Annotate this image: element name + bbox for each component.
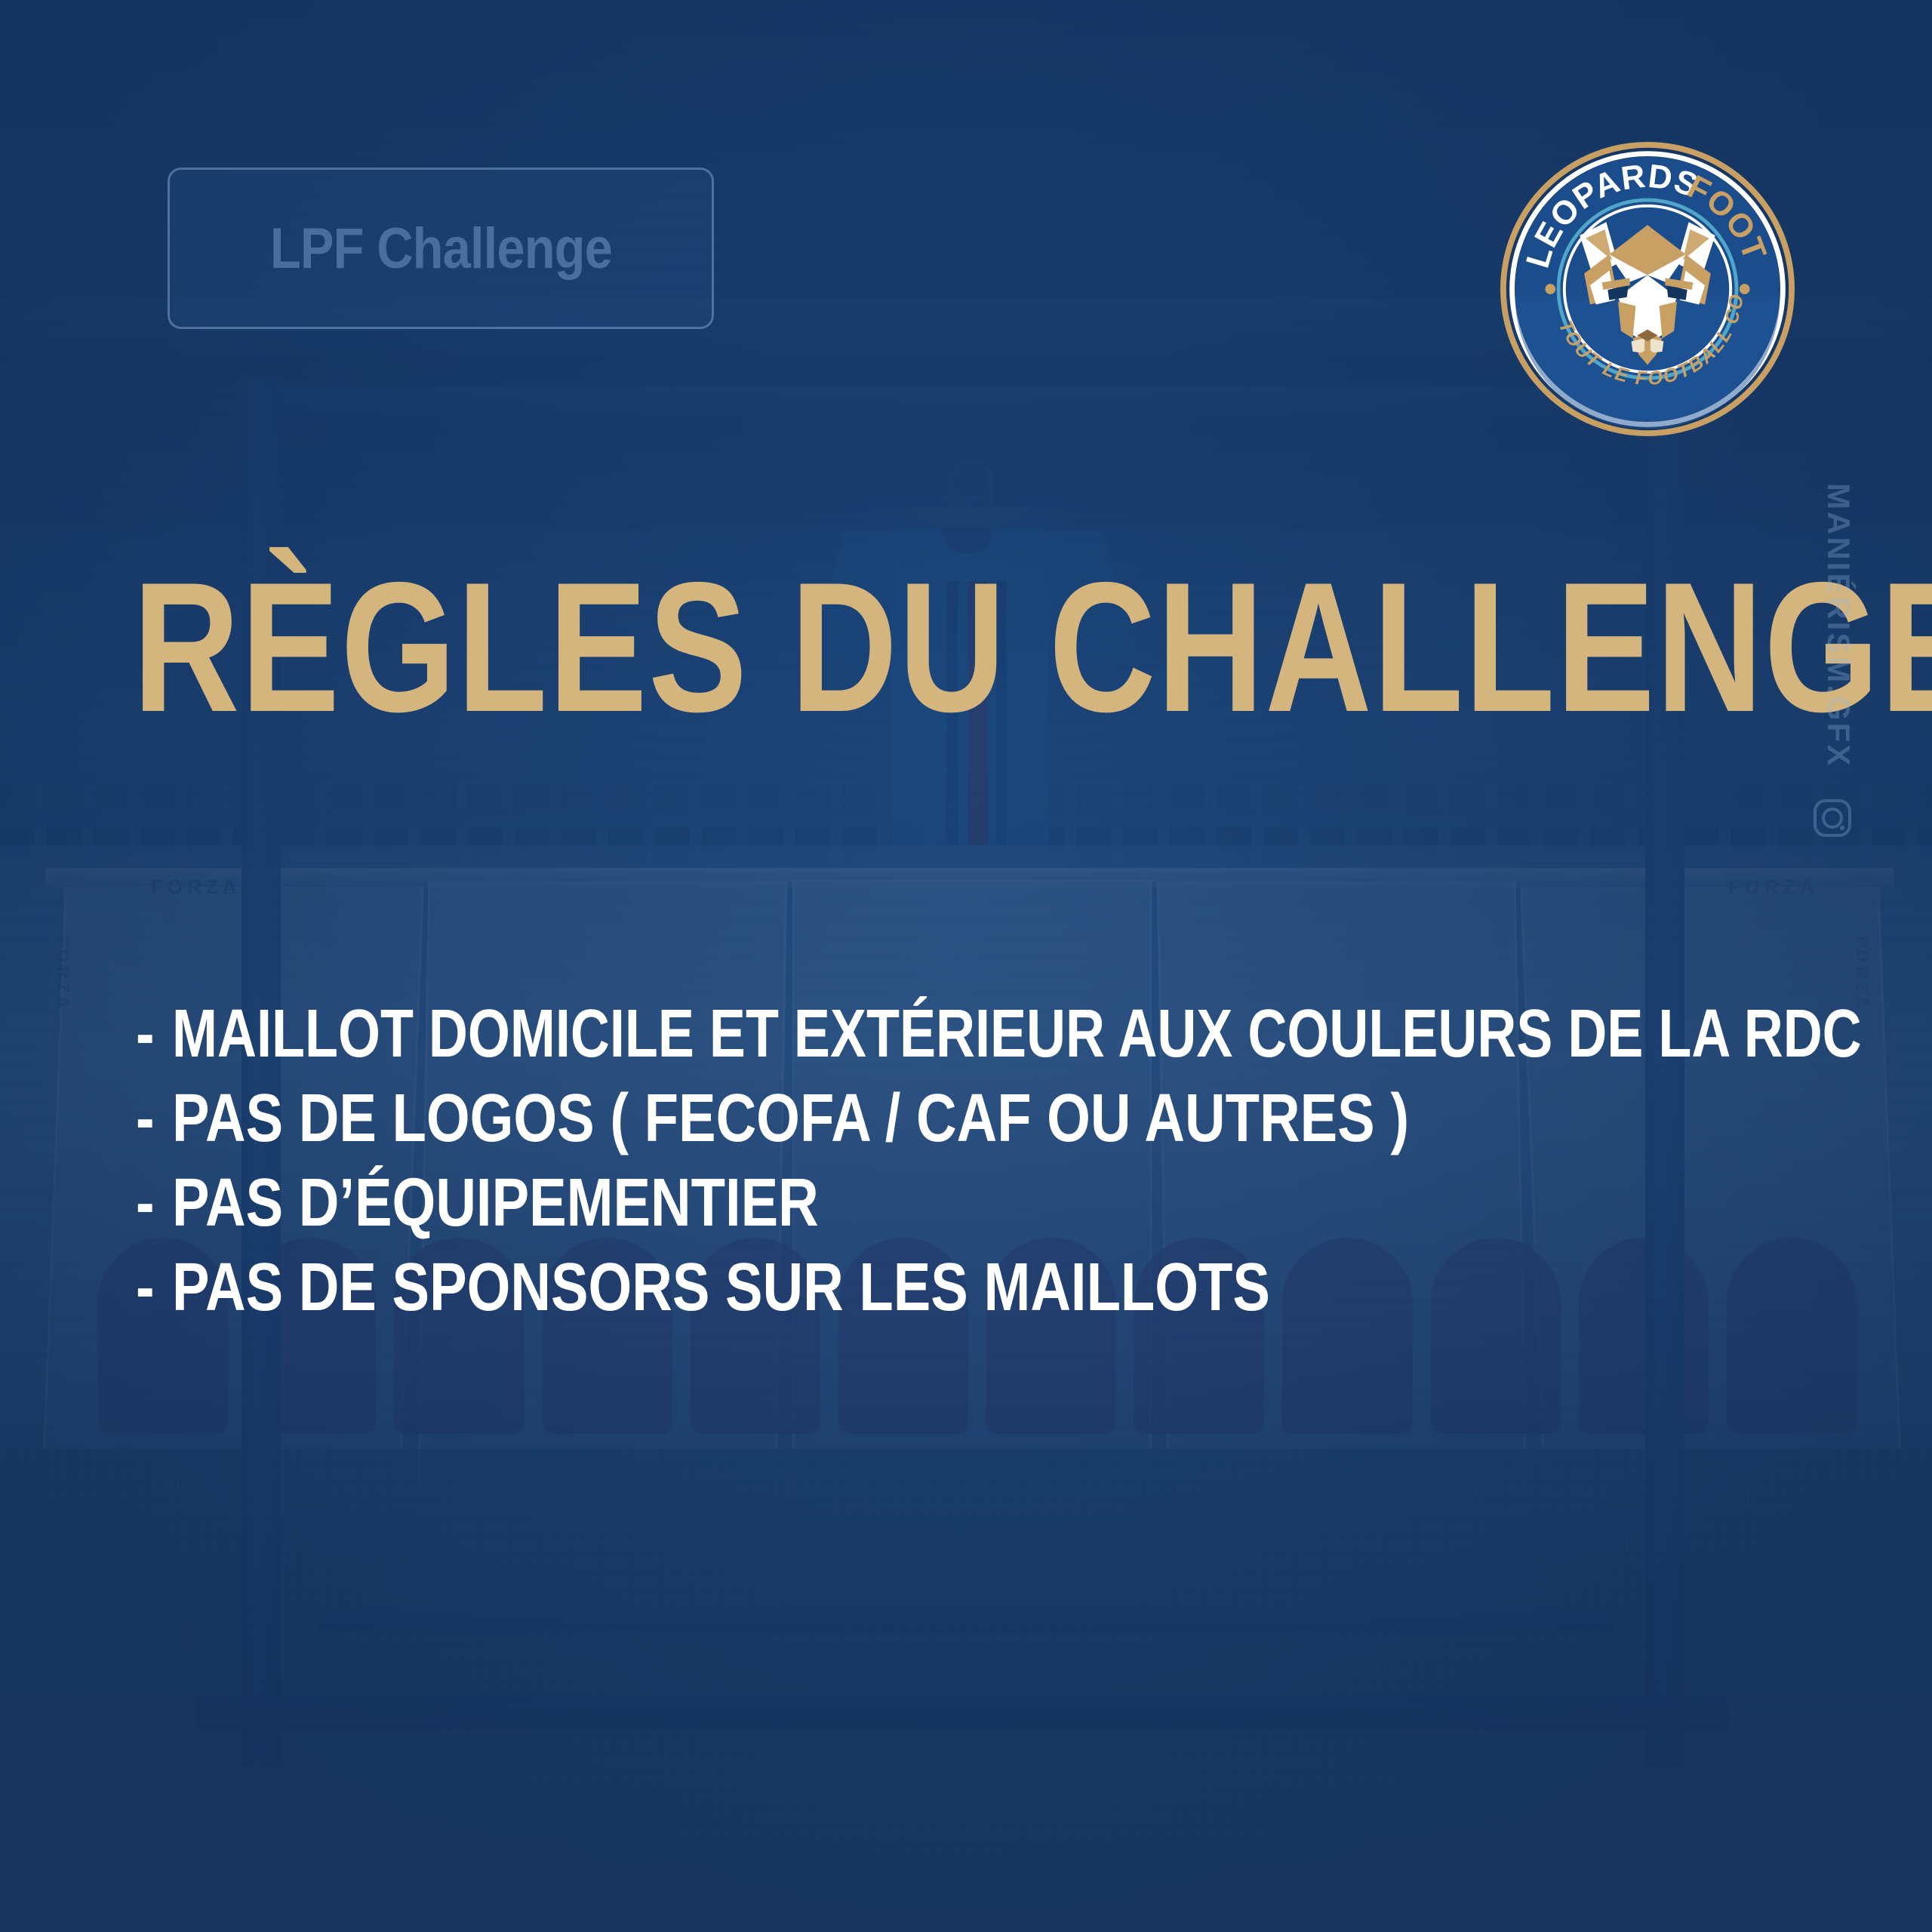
rule-bullet-dash: - — [136, 1254, 155, 1321]
lpf-challenge-label: LPF Challenge — [269, 216, 611, 281]
rule-item: - MAILLOT DOMICILE ET EXTÉRIEUR AUX COUL… — [136, 1000, 1902, 1068]
rule-bullet-dash: - — [136, 1000, 155, 1068]
page-title: RÈGLES DU CHALLENGE — [133, 555, 1932, 740]
rule-bullet-dash: - — [136, 1084, 155, 1152]
rule-text: MAILLOT DOMICILE ET EXTÉRIEUR AUX COULEU… — [172, 1000, 1862, 1068]
rule-item: - PAS D’ÉQUIPEMENTIER — [136, 1169, 1902, 1237]
poster-canvas: FORZA FORZA FORZA FORZA — [0, 0, 1932, 1932]
rule-item: - PAS DE SPONSORS SUR LES MAILLOTS — [136, 1254, 1902, 1321]
watermark-text: MANIÉRISM.GFX — [1820, 483, 1857, 768]
rule-text: PAS D’ÉQUIPEMENTIER — [172, 1169, 819, 1237]
rule-bullet-dash: - — [136, 1169, 155, 1237]
designer-watermark: MANIÉRISM.GFX — [1857, 483, 1926, 891]
leopardsfoot-logo: LEOPARDS FOOT TOUT LE FOOTBALL CONGOLAIS — [1500, 142, 1795, 436]
rule-item: - PAS DE LOGOS ( FECOFA / CAF OU AUTRES … — [136, 1084, 1902, 1152]
poster-content: LPF Challenge — [0, 0, 1932, 1932]
rules-list: - MAILLOT DOMICILE ET EXTÉRIEUR AUX COUL… — [136, 1000, 1902, 1338]
rule-text: PAS DE SPONSORS SUR LES MAILLOTS — [172, 1254, 1270, 1321]
lpf-challenge-badge: LPF Challenge — [168, 168, 714, 329]
rule-text: PAS DE LOGOS ( FECOFA / CAF OU AUTRES ) — [172, 1084, 1409, 1152]
